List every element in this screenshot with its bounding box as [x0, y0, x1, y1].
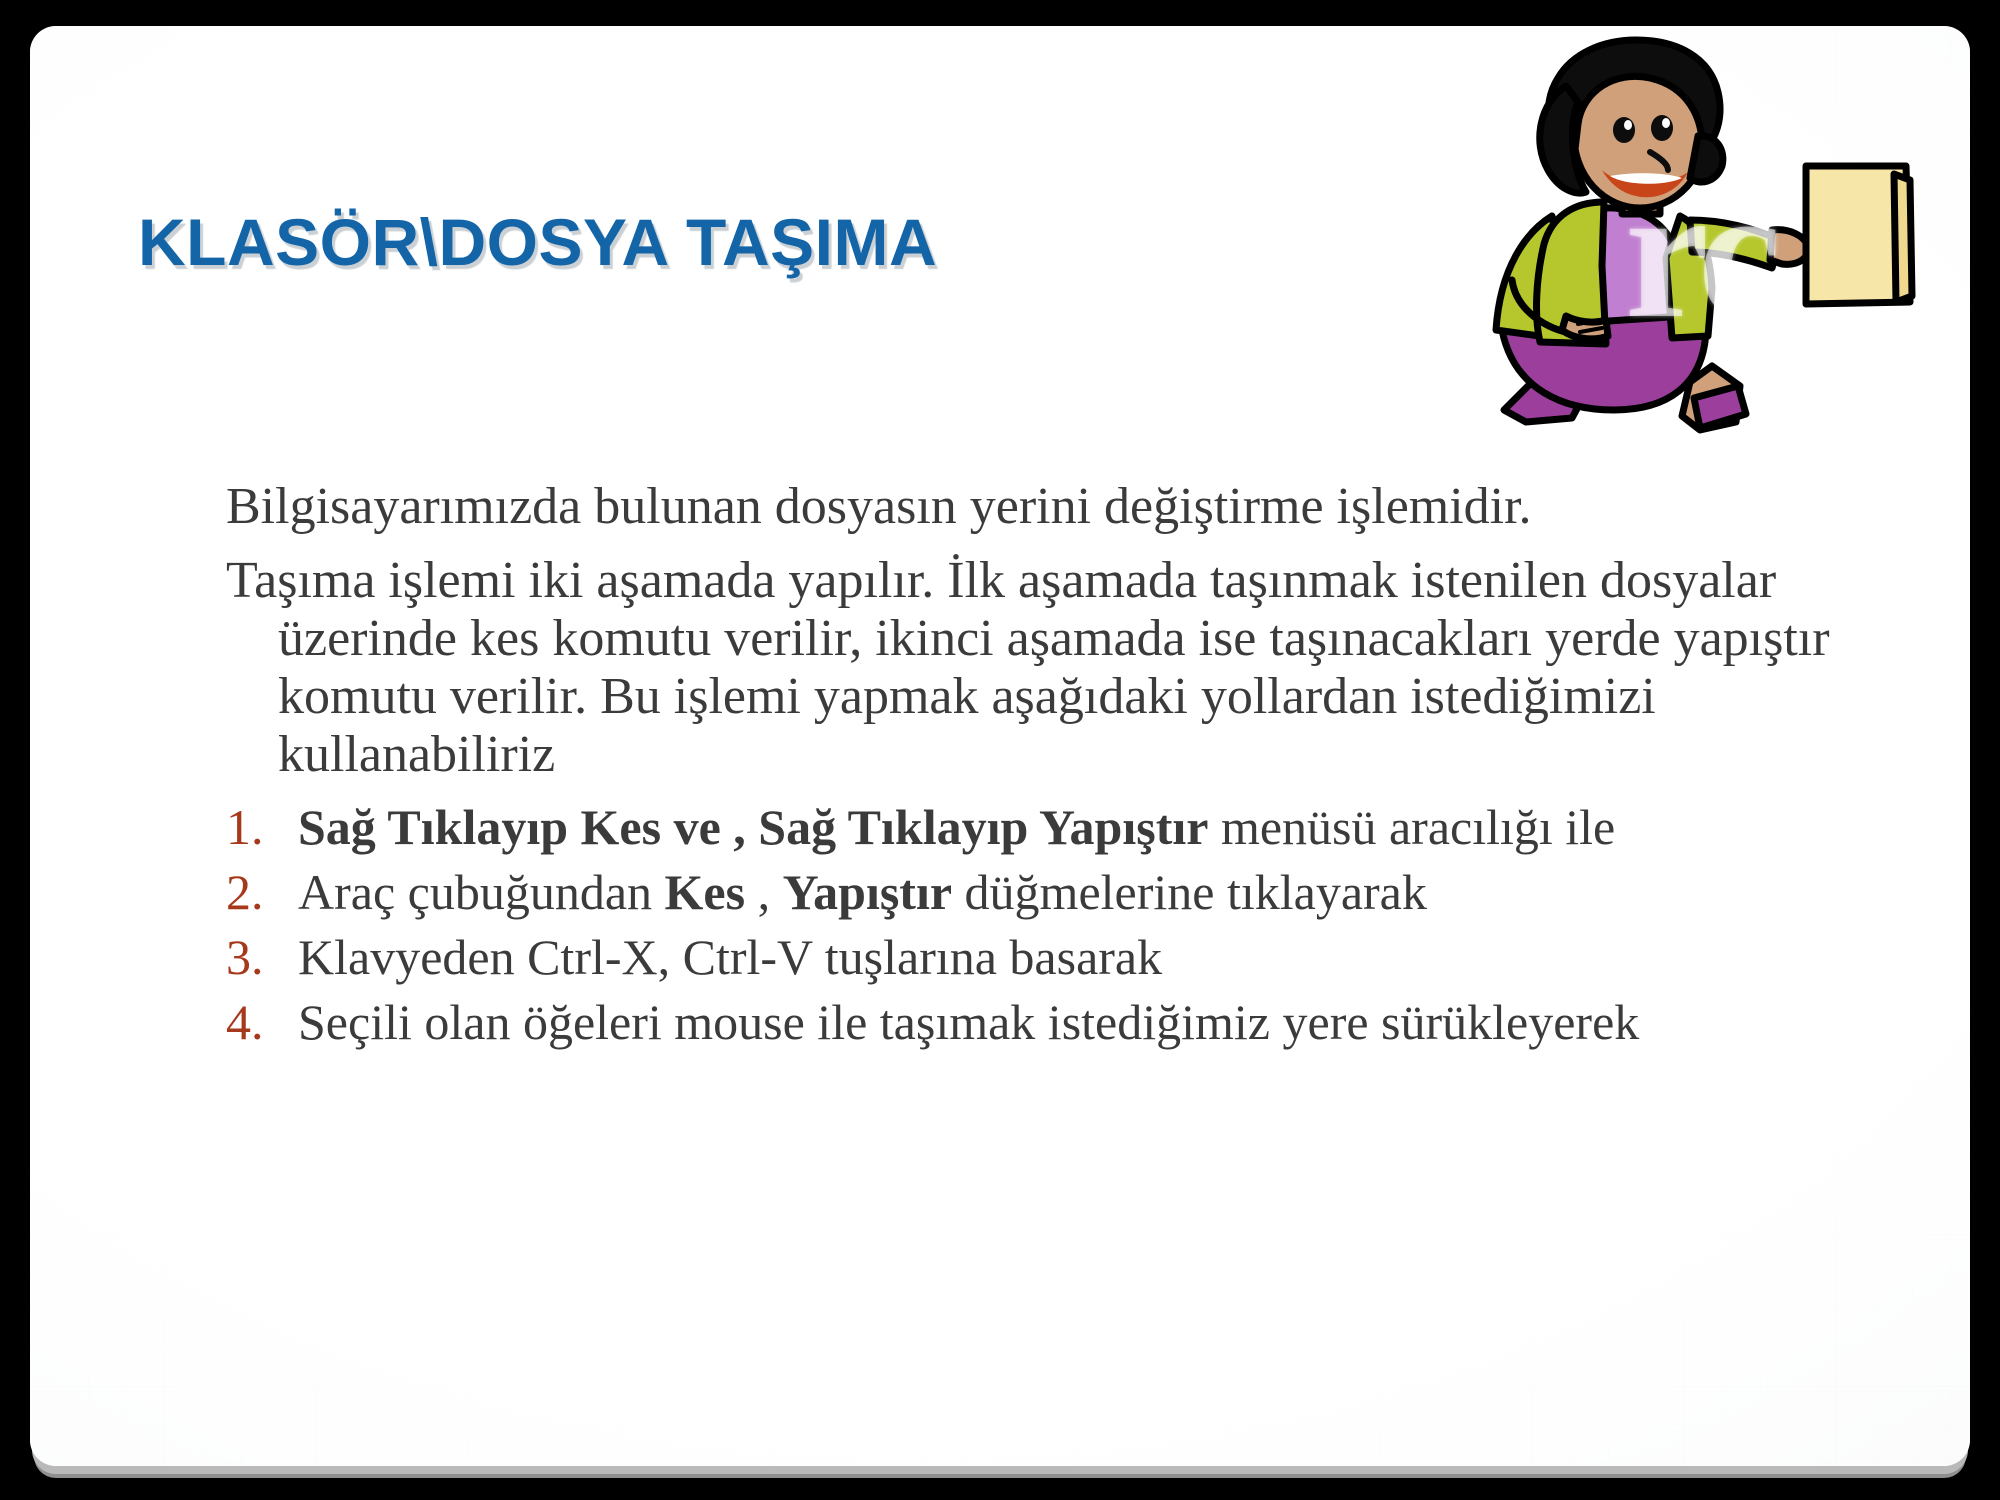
list-item-text: Klavyeden Ctrl-X, Ctrl-V tuşlarına basar… [298, 930, 1836, 985]
list-item: 4. Seçili olan öğeleri mouse ile taşımak… [226, 995, 1836, 1050]
list-item-prefix: Araç çubuğundan [298, 864, 665, 920]
list-item: 1. Sağ Tıklayıp Kes ve , Sağ Tıklayıp Ya… [226, 800, 1836, 855]
slide-frame: rc KLASÖR\DOSYA TAŞIMA Bilgisayarımızda … [0, 0, 2000, 1500]
list-item-number: 4. [226, 995, 298, 1050]
paragraph-1-text: Bilgisayarımızda bulunan dosyasın yerini… [226, 478, 1532, 535]
list-item-plain: menüsü aracılığı ile [1208, 799, 1615, 855]
list-item-number: 1. [226, 800, 298, 855]
list-item-mid: , [745, 864, 783, 920]
list-item-text: Araç çubuğundan Kes , Yapıştır düğmeleri… [298, 865, 1836, 920]
page-title: KLASÖR\DOSYA TAŞIMA [138, 204, 937, 280]
list-item-bold: Sağ Tıklayıp Kes ve , Sağ Tıklayıp Yapış… [298, 799, 1208, 855]
slide-body: Bilgisayarımızda bulunan dosyasın yerini… [226, 478, 1836, 1060]
list-item-bold-b: Yapıştır [783, 864, 952, 920]
list-item-number: 3. [226, 930, 298, 985]
list-item-text: Sağ Tıklayıp Kes ve , Sağ Tıklayıp Yapış… [298, 800, 1836, 855]
method-list: 1. Sağ Tıklayıp Kes ve , Sağ Tıklayıp Ya… [226, 800, 1836, 1050]
list-item-number: 2. [226, 865, 298, 920]
list-item-bold-a: Kes [665, 864, 746, 920]
list-item: 2. Araç çubuğundan Kes , Yapıştır düğmel… [226, 865, 1836, 920]
woman-carrying-folder-illustration [1454, 30, 1924, 460]
list-item: 3. Klavyeden Ctrl-X, Ctrl-V tuşlarına ba… [226, 930, 1836, 985]
paragraph-2: Taşıma işlemi iki aşamada yapılır. İlk a… [226, 552, 1836, 784]
slide-card: rc KLASÖR\DOSYA TAŞIMA Bilgisayarımızda … [30, 26, 1970, 1466]
list-item-suffix: düğmelerine tıklayarak [952, 864, 1427, 920]
list-item-text: Seçili olan öğeleri mouse ile taşımak is… [298, 995, 1836, 1050]
paragraph-2-text: Taşıma işlemi iki aşamada yapılır. İlk a… [226, 552, 1830, 783]
paragraph-1: Bilgisayarımızda bulunan dosyasın yerini… [226, 478, 1836, 536]
